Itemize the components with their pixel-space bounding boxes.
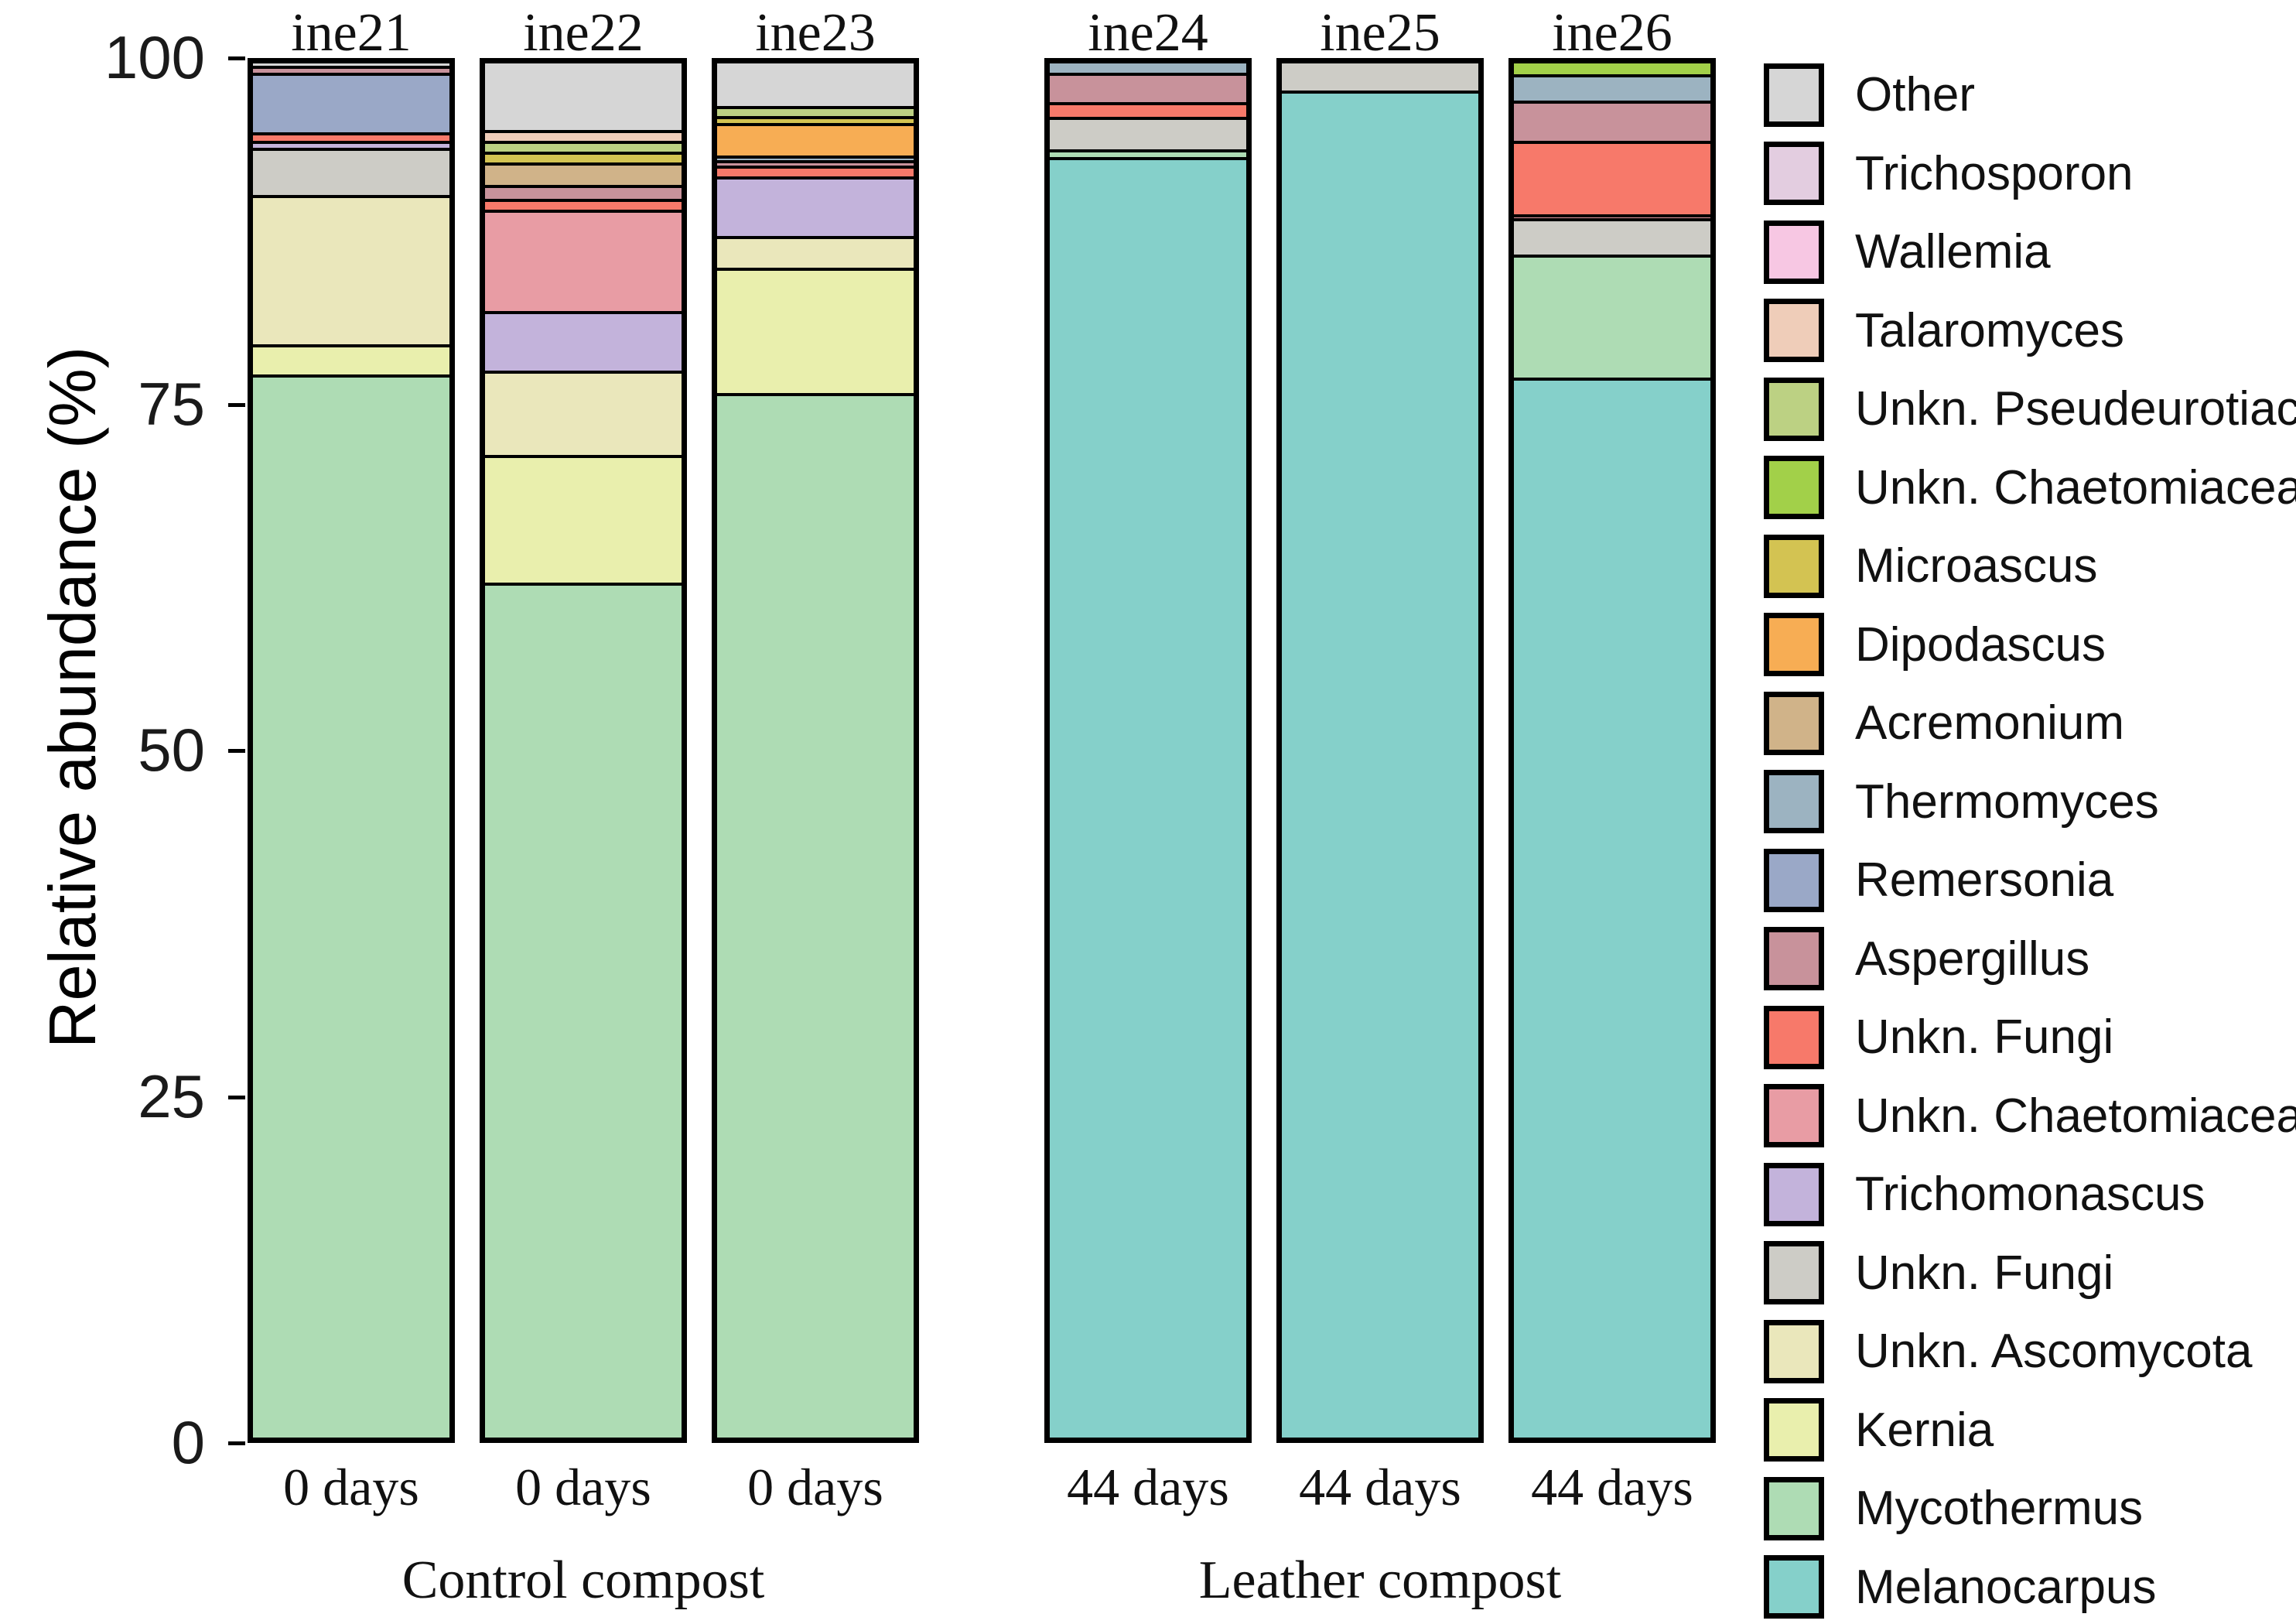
bar-segment[interactable]	[717, 169, 914, 179]
legend-item[interactable]: Dipodascus	[1764, 606, 2296, 685]
legend-item[interactable]: Mycothermus	[1764, 1469, 2296, 1548]
bar-segment[interactable]	[485, 202, 682, 213]
legend-label: Unkn. Fungi	[1855, 1010, 2113, 1065]
legend-label: Aspergillus	[1855, 932, 2089, 986]
legend-label: Thermomyces	[1855, 774, 2159, 829]
legend-item[interactable]: Kernia	[1764, 1391, 2296, 1470]
figure-root: Relative abundance (%) 0255075100 ine210…	[0, 0, 2296, 1624]
bar-segment[interactable]	[1050, 152, 1246, 161]
legend-label: Melanocarpus	[1855, 1560, 2156, 1615]
bar-segment[interactable]	[1282, 94, 1478, 1443]
legend-item[interactable]: Wallemia	[1764, 213, 2296, 292]
bar-segment[interactable]	[485, 213, 682, 314]
legend-swatch-icon	[1764, 1555, 1824, 1619]
bar-segment[interactable]	[253, 69, 449, 76]
bar-segment[interactable]	[717, 179, 914, 239]
legend-swatch-icon	[1764, 142, 1824, 205]
legend-label: Other	[1855, 67, 1975, 122]
legend-swatch-icon	[1764, 63, 1824, 127]
stacked-bar-ine22[interactable]	[480, 58, 687, 1443]
legend-swatch-icon	[1764, 927, 1824, 990]
legend-label: Kernia	[1855, 1403, 1994, 1458]
y-tick-mark	[228, 56, 245, 60]
bar-title-ine23: ine23	[712, 2, 919, 64]
stacked-bar-ine21[interactable]	[248, 58, 455, 1443]
y-tick-label: 0	[12, 1407, 205, 1478]
legend-swatch-icon	[1764, 1241, 1824, 1304]
legend-label: Unkn. Fungi	[1855, 1246, 2113, 1301]
bar-title-ine22: ine22	[480, 2, 687, 64]
stacked-bar-ine25[interactable]	[1276, 58, 1484, 1443]
y-tick-label: 75	[12, 369, 205, 439]
legend-item[interactable]: Remersonia	[1764, 841, 2296, 920]
bar-segment[interactable]	[717, 109, 914, 119]
legend-swatch-icon	[1764, 1477, 1824, 1540]
legend-item[interactable]: Unkn. Chaetomiaceae	[1764, 449, 2296, 528]
legend-swatch-icon	[1764, 221, 1824, 284]
bar-segment[interactable]	[253, 378, 449, 1443]
bar-segment[interactable]	[253, 347, 449, 378]
bar-segment[interactable]	[485, 155, 682, 166]
legend-item[interactable]: Thermomyces	[1764, 763, 2296, 842]
legend-swatch-icon	[1764, 378, 1824, 441]
y-tick-label: 25	[12, 1062, 205, 1132]
bar-segment[interactable]	[253, 135, 449, 144]
legend-swatch-icon	[1764, 1084, 1824, 1147]
bar-segment[interactable]	[717, 126, 914, 159]
y-tick-label: 100	[12, 22, 205, 93]
group-label: Control compost	[248, 1550, 919, 1612]
bar-title-ine25: ine25	[1276, 2, 1484, 64]
bar-segment[interactable]	[1514, 104, 1710, 144]
legend-label: Microascus	[1855, 538, 2098, 593]
bar-segment[interactable]	[485, 374, 682, 458]
legend-swatch-icon	[1764, 770, 1824, 833]
bar-segment[interactable]	[253, 144, 449, 151]
legend-swatch-icon	[1764, 1163, 1824, 1226]
legend-label: Dipodascus	[1855, 617, 2106, 672]
legend-item[interactable]: Other	[1764, 56, 2296, 135]
bar-segment[interactable]	[717, 119, 914, 126]
legend-item[interactable]: Acremonium	[1764, 684, 2296, 763]
legend-swatch-icon	[1764, 1398, 1824, 1462]
legend-swatch-icon	[1764, 1006, 1824, 1069]
plot-area: ine210 daysine220 daysine230 daysine2444…	[248, 58, 1702, 1443]
y-tick-mark	[228, 1441, 245, 1445]
bar-segment[interactable]	[253, 198, 449, 347]
legend-swatch-icon	[1764, 456, 1824, 519]
x-tick-label: 44 days	[1044, 1457, 1252, 1518]
bar-segment[interactable]	[1282, 63, 1478, 94]
bar-title-ine24: ine24	[1044, 2, 1252, 64]
legend-item[interactable]: Microascus	[1764, 527, 2296, 606]
legend-label: Unkn. Chaetomiaceae	[1855, 1089, 2296, 1144]
bar-title-ine26: ine26	[1508, 2, 1716, 64]
bar-segment[interactable]	[717, 163, 914, 169]
bar-segment[interactable]	[253, 76, 449, 135]
bar-segment[interactable]	[1050, 105, 1246, 121]
bar-segment[interactable]	[1514, 144, 1710, 217]
legend-swatch-icon	[1764, 535, 1824, 598]
legend: OtherTrichosporonWallemiaTalaromycesUnkn…	[1764, 56, 2296, 1624]
bar-segment[interactable]	[253, 63, 449, 69]
x-tick-label: 0 days	[480, 1457, 687, 1518]
legend-swatch-icon	[1764, 299, 1824, 362]
bar-segment[interactable]	[717, 239, 914, 271]
bar-segment[interactable]	[1050, 120, 1246, 152]
legend-label: Trichomonascus	[1855, 1167, 2205, 1222]
y-tick-label: 50	[12, 715, 205, 785]
bar-segment[interactable]	[1514, 77, 1710, 104]
y-tick-mark	[228, 403, 245, 407]
bar-segment[interactable]	[485, 133, 682, 144]
legend-label: Unkn. Chaetomiaceae	[1855, 460, 2296, 515]
bar-segment[interactable]	[1514, 221, 1710, 258]
stacked-bar-ine26[interactable]	[1508, 58, 1716, 1443]
x-tick-label: 44 days	[1276, 1457, 1484, 1518]
y-tick-mark	[228, 749, 245, 753]
legend-swatch-icon	[1764, 849, 1824, 912]
legend-item[interactable]: Trichomonascus	[1764, 1155, 2296, 1234]
legend-swatch-icon	[1764, 613, 1824, 676]
bar-segment[interactable]	[485, 63, 682, 133]
legend-item[interactable]: Unkn. Chaetomiaceae	[1764, 1077, 2296, 1156]
bar-segment[interactable]	[485, 314, 682, 374]
x-tick-label: 0 days	[248, 1457, 455, 1518]
legend-item[interactable]: Talaromyces	[1764, 292, 2296, 371]
bar-segment[interactable]	[1514, 258, 1710, 381]
bar-title-ine21: ine21	[248, 2, 455, 64]
group-label: Leather compost	[1044, 1550, 1716, 1612]
legend-swatch-icon	[1764, 1320, 1824, 1383]
x-tick-label: 44 days	[1508, 1457, 1716, 1518]
legend-label: Talaromyces	[1855, 303, 2124, 358]
bar-segment[interactable]	[1514, 381, 1710, 1443]
bar-segment[interactable]	[717, 63, 914, 109]
stacked-bar-ine24[interactable]	[1044, 58, 1252, 1443]
legend-item[interactable]: Unkn. Fungi	[1764, 1234, 2296, 1313]
bar-segment[interactable]	[485, 188, 682, 202]
legend-label: Acremonium	[1855, 696, 2124, 750]
legend-item[interactable]: Trichosporon	[1764, 135, 2296, 214]
stacked-bar-ine23[interactable]	[712, 58, 919, 1443]
bar-segment[interactable]	[1050, 76, 1246, 105]
x-tick-label: 0 days	[712, 1457, 919, 1518]
bar-segment[interactable]	[1050, 63, 1246, 76]
legend-label: Unkn. Pseudeurotiaceae	[1855, 381, 2296, 436]
bar-segment[interactable]	[1514, 63, 1710, 77]
y-axis-ticks: 0255075100	[23, 0, 248, 1624]
y-tick-mark	[228, 1096, 245, 1099]
bar-segment[interactable]	[1050, 160, 1246, 1443]
bar-segment[interactable]	[253, 151, 449, 198]
legend-item[interactable]: Aspergillus	[1764, 920, 2296, 999]
bar-segment[interactable]	[485, 144, 682, 155]
legend-label: Mycothermus	[1855, 1481, 2143, 1536]
bar-segment[interactable]	[485, 586, 682, 1443]
bar-segment[interactable]	[485, 458, 682, 586]
legend-swatch-icon	[1764, 692, 1824, 755]
legend-label: Wallemia	[1855, 224, 2051, 279]
bar-segment[interactable]	[717, 271, 914, 395]
legend-item[interactable]: Unkn. Fungi	[1764, 998, 2296, 1077]
legend-item[interactable]: Melanocarpus	[1764, 1548, 2296, 1624]
bar-segment[interactable]	[485, 166, 682, 188]
legend-label: Unkn. Ascomycota	[1855, 1324, 2252, 1379]
legend-item[interactable]: Unkn. Ascomycota	[1764, 1312, 2296, 1391]
legend-label: Trichosporon	[1855, 146, 2134, 201]
legend-label: Remersonia	[1855, 853, 2113, 908]
bar-segment[interactable]	[717, 396, 914, 1443]
legend-item[interactable]: Unkn. Pseudeurotiaceae	[1764, 370, 2296, 449]
